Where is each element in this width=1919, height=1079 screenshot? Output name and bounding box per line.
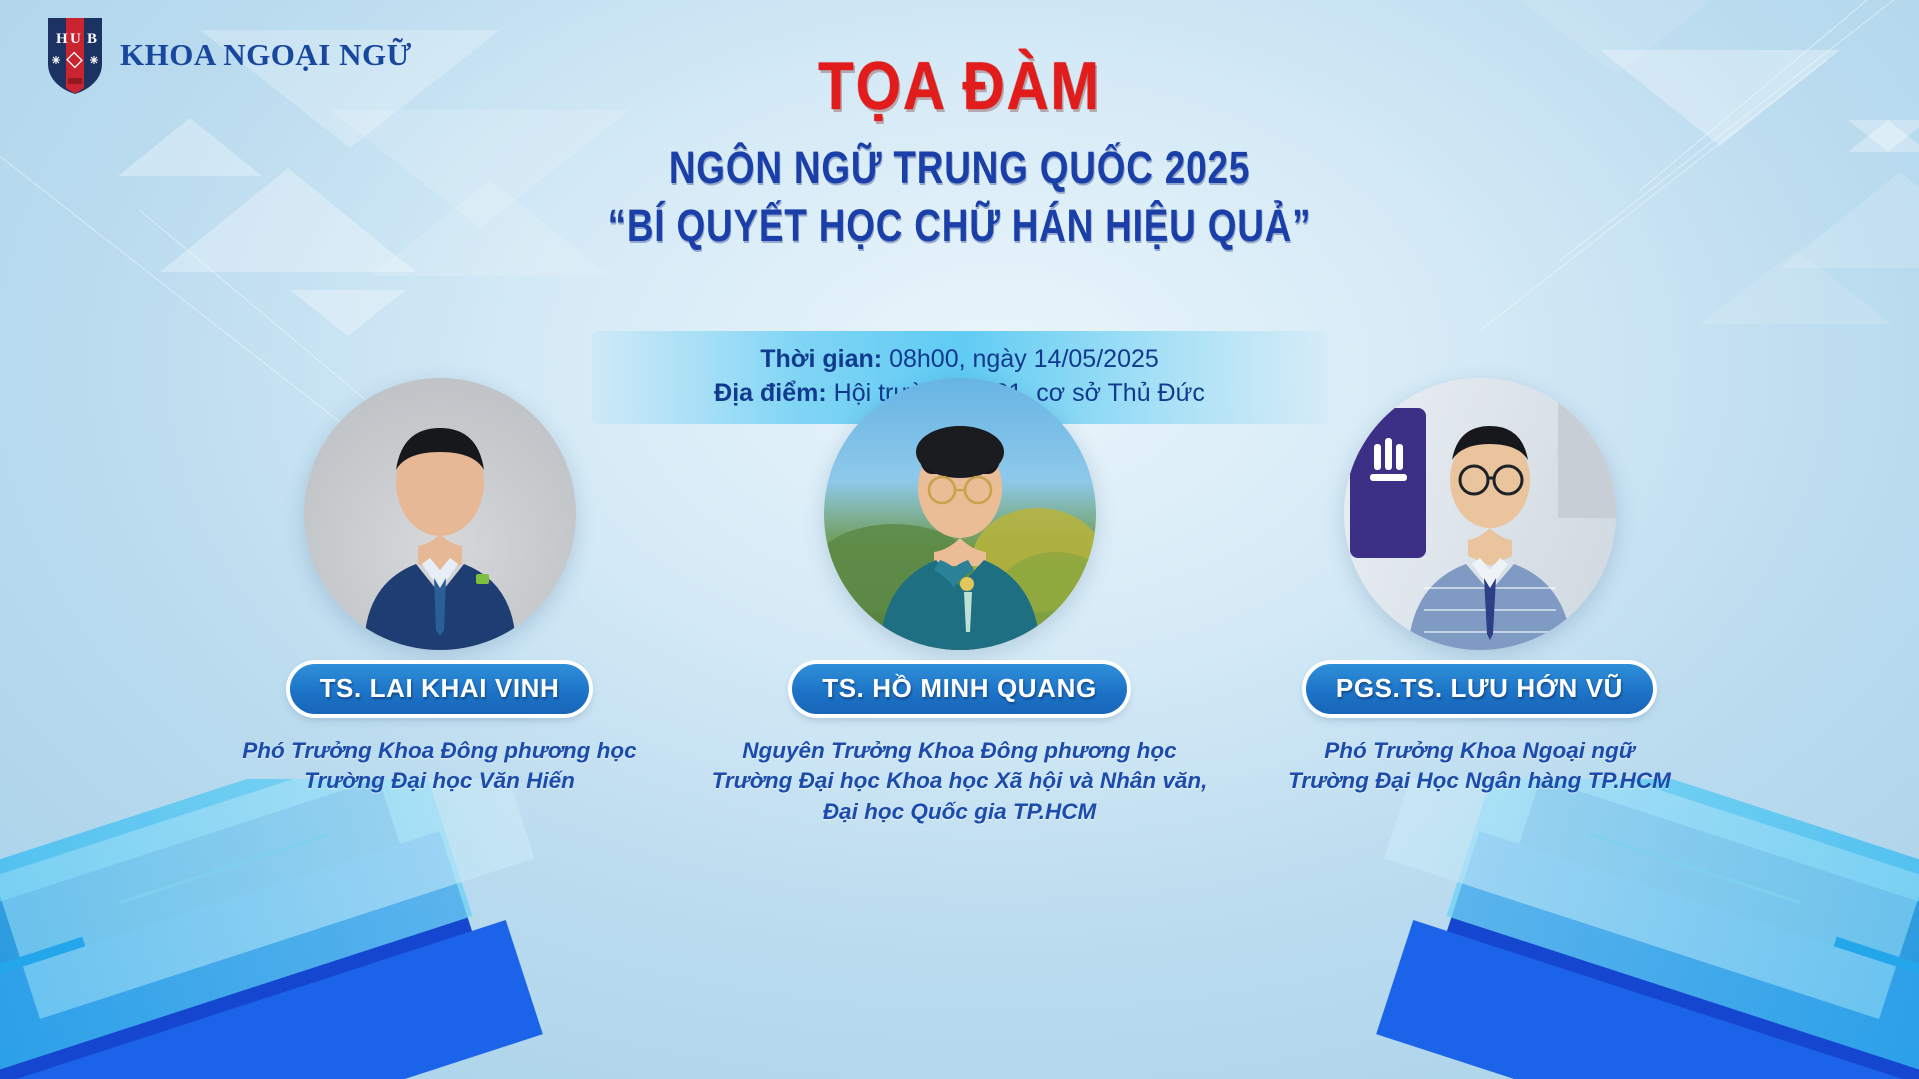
speaker-role-line: Trường Đại học Văn Hiến [242, 766, 636, 796]
speaker-role-line: Trường Đại học Khoa học Xã hội và Nhân v… [712, 766, 1208, 796]
speaker-role-line: Nguyên Trưởng Khoa Đông phương học [712, 736, 1208, 766]
speaker-role-line: Đại học Quốc gia TP.HCM [712, 797, 1208, 827]
speaker-name: PGS.TS. LƯU HỚN VŨ [1336, 673, 1623, 704]
event-title-sub1: NGÔN NGỮ TRUNG QUỐC 2025 [173, 143, 1747, 193]
speaker-name: TS. LAI KHAI VINH [320, 673, 560, 704]
event-time-line: Thời gian: 08h00, ngày 14/05/2025 [620, 343, 1300, 377]
speaker-role-line: Phó Trưởng Khoa Ngoại ngữ [1288, 736, 1671, 766]
speaker-role-line: Trường Đại Học Ngân hàng TP.HCM [1288, 766, 1671, 796]
speaker-name-plate: TS. HỒ MINH QUANG [792, 664, 1127, 714]
speaker-avatar [1344, 378, 1616, 650]
svg-text:U: U [70, 31, 81, 47]
event-time-label: Thời gian: [760, 345, 882, 373]
title-block: TỌA ĐÀM NGÔN NGỮ TRUNG QUỐC 2025 “BÍ QUY… [0, 52, 1919, 250]
poster-canvas: H U B KHOA NGOẠI NGỮ TỌA ĐÀM NGÔN NGỮ TR… [0, 0, 1919, 1079]
speakers-row: TS. LAI KHAI VINH Phó Trưởng Khoa Đông p… [0, 378, 1919, 827]
speaker-card: PGS.TS. LƯU HỚN VŨ Phó Trưởng Khoa Ngoại… [1220, 378, 1740, 827]
speaker-role: Phó Trưởng Khoa Đông phương học Trường Đ… [242, 736, 636, 797]
speaker-card: TS. HỒ MINH QUANG Nguyên Trưởng Khoa Đôn… [700, 378, 1220, 827]
speaker-name: TS. HỒ MINH QUANG [822, 673, 1097, 704]
svg-text:H: H [56, 31, 68, 47]
speaker-avatar [824, 378, 1096, 650]
svg-text:B: B [87, 31, 97, 47]
speaker-name-plate: PGS.TS. LƯU HỚN VŨ [1306, 664, 1653, 714]
speaker-card: TS. LAI KHAI VINH Phó Trưởng Khoa Đông p… [180, 378, 700, 827]
speaker-avatar [304, 378, 576, 650]
speaker-role: Nguyên Trưởng Khoa Đông phương học Trườn… [712, 736, 1208, 827]
speaker-role-line: Phó Trưởng Khoa Đông phương học [242, 736, 636, 766]
speaker-name-plate: TS. LAI KHAI VINH [290, 664, 590, 714]
event-time-value: 08h00, ngày 14/05/2025 [882, 345, 1159, 373]
event-title-main: TỌA ĐÀM [134, 52, 1784, 121]
speaker-role: Phó Trưởng Khoa Ngoại ngữ Trường Đại Học… [1288, 736, 1671, 797]
event-title-sub2: “BÍ QUYẾT HỌC CHỮ HÁN HIỆU QUẢ” [173, 201, 1747, 251]
